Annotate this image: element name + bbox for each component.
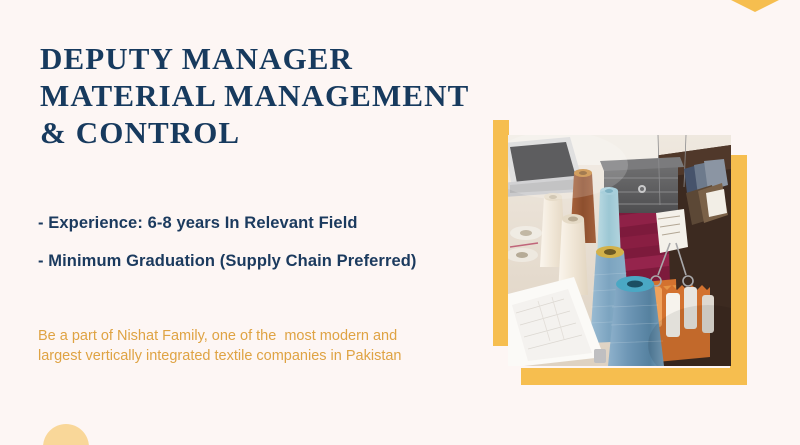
requirement-item: - Minimum Graduation (Supply Chain Prefe…: [38, 242, 508, 280]
company-description: Be a part of Nishat Family, one of the m…: [38, 326, 488, 366]
page-title: DEPUTY MANAGER MATERIAL MANAGEMENT & CON…: [40, 40, 510, 151]
job-poster: DEPUTY MANAGER MATERIAL MANAGEMENT & CON…: [0, 0, 800, 445]
photo-frame-right-bar: [730, 155, 747, 385]
description-line: largest vertically integrated textile co…: [38, 346, 488, 366]
yellow-circle-icon: [43, 424, 89, 445]
requirements-list: - Experience: 6-8 years In Relevant Fiel…: [38, 204, 508, 280]
title-line-2: MATERIAL MANAGEMENT: [40, 77, 510, 114]
title-line-3: & CONTROL: [40, 114, 510, 151]
photo-frame-bottom-bar: [521, 368, 747, 385]
description-line: Be a part of Nishat Family, one of the m…: [38, 326, 488, 346]
yellow-triangle-icon: [729, 0, 781, 12]
requirement-item: - Experience: 6-8 years In Relevant Fiel…: [38, 204, 508, 242]
textile-workspace-photo: [508, 135, 731, 366]
title-line-1: DEPUTY MANAGER: [40, 40, 510, 77]
photo-frame-left-bar: [493, 120, 509, 346]
